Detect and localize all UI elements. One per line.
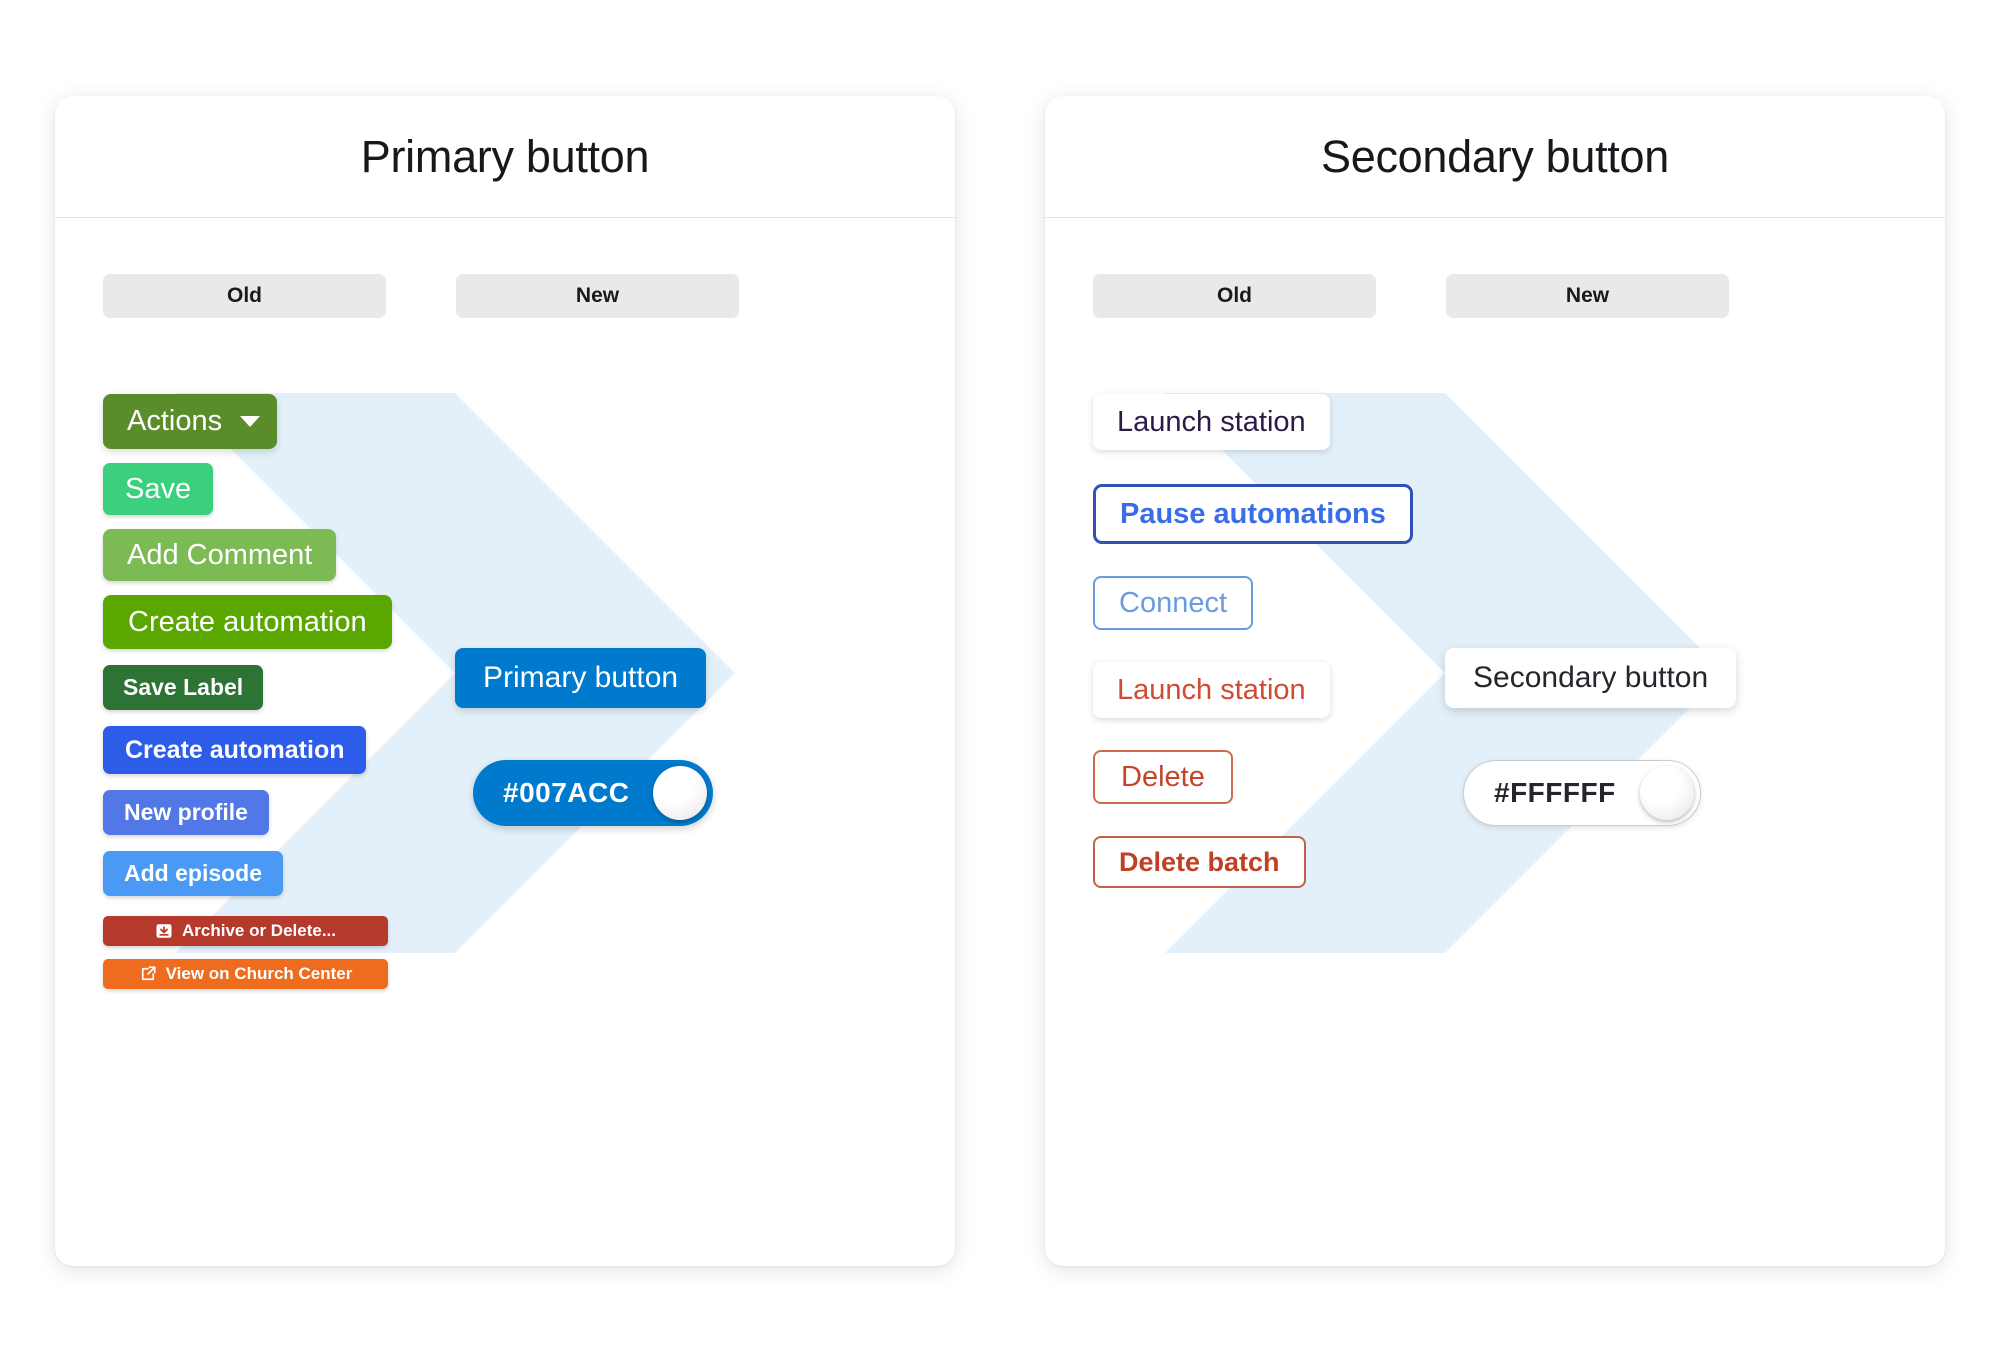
launch-station-button[interactable]: Launch station bbox=[1093, 394, 1330, 450]
secondary-color-toggle[interactable]: #FFFFFF bbox=[1463, 760, 1701, 826]
view-on-church-center-button[interactable]: View on Church Center bbox=[103, 959, 388, 989]
tab-old[interactable]: Old bbox=[103, 274, 386, 318]
primary-new-column: Primary button #007ACC bbox=[455, 318, 907, 989]
add-comment-button[interactable]: Add Comment bbox=[103, 529, 336, 581]
primary-color-toggle[interactable]: #007ACC bbox=[473, 760, 713, 826]
actions-button-label: Actions bbox=[127, 405, 222, 438]
secondary-button-card: Secondary button Old New Launch station … bbox=[1045, 96, 1945, 1266]
launch-station-danger-button[interactable]: Launch station bbox=[1093, 662, 1330, 718]
secondary-new-column: Secondary button #FFFFFF bbox=[1445, 318, 1897, 888]
primary-segment-row: Old New bbox=[55, 218, 955, 318]
save-label-button[interactable]: Save Label bbox=[103, 665, 263, 710]
primary-card-body: Old New Actions Save Add Comment Create … bbox=[55, 218, 955, 1266]
external-link-icon bbox=[139, 965, 157, 983]
page-title: Primary button bbox=[361, 131, 649, 183]
actions-button[interactable]: Actions bbox=[103, 394, 277, 449]
save-button[interactable]: Save bbox=[103, 463, 213, 515]
primary-columns: Actions Save Add Comment Create automati… bbox=[55, 318, 955, 989]
new-profile-button[interactable]: New profile bbox=[103, 790, 269, 835]
primary-card-header: Primary button bbox=[55, 96, 955, 218]
view-on-church-center-label: View on Church Center bbox=[166, 964, 353, 984]
create-automation-green-button[interactable]: Create automation bbox=[103, 595, 392, 649]
toggle-knob[interactable] bbox=[1640, 766, 1694, 820]
chevron-down-icon bbox=[240, 416, 260, 427]
archive-or-delete-button[interactable]: Archive or Delete... bbox=[103, 916, 388, 946]
secondary-button-new[interactable]: Secondary button bbox=[1445, 648, 1736, 708]
primary-old-column: Actions Save Add Comment Create automati… bbox=[103, 318, 455, 989]
toggle-knob[interactable] bbox=[653, 766, 707, 820]
archive-or-delete-label: Archive or Delete... bbox=[182, 921, 336, 941]
delete-batch-button[interactable]: Delete batch bbox=[1093, 836, 1306, 888]
secondary-old-column: Launch station Pause automations Connect… bbox=[1093, 318, 1445, 888]
primary-button-new[interactable]: Primary button bbox=[455, 648, 706, 708]
secondary-color-value: #FFFFFF bbox=[1494, 777, 1616, 809]
primary-button-card: Primary button Old New Actions Save Add … bbox=[55, 96, 955, 1266]
secondary-card-header: Secondary button bbox=[1045, 96, 1945, 218]
pause-automations-button[interactable]: Pause automations bbox=[1093, 484, 1413, 544]
add-episode-button[interactable]: Add episode bbox=[103, 851, 283, 896]
secondary-columns: Launch station Pause automations Connect… bbox=[1045, 318, 1945, 888]
connect-button[interactable]: Connect bbox=[1093, 576, 1253, 630]
primary-color-value: #007ACC bbox=[503, 777, 629, 809]
delete-button[interactable]: Delete bbox=[1093, 750, 1233, 804]
tab-old-secondary[interactable]: Old bbox=[1093, 274, 1376, 318]
secondary-card-body: Old New Launch station Pause automations… bbox=[1045, 218, 1945, 1266]
create-automation-blue-button[interactable]: Create automation bbox=[103, 726, 366, 774]
archive-box-icon bbox=[155, 922, 173, 940]
tab-new[interactable]: New bbox=[456, 274, 739, 318]
page-title-secondary: Secondary button bbox=[1321, 131, 1669, 183]
secondary-segment-row: Old New bbox=[1045, 218, 1945, 318]
page-root: Primary button Old New Actions Save Add … bbox=[0, 0, 2000, 1369]
tab-new-secondary[interactable]: New bbox=[1446, 274, 1729, 318]
